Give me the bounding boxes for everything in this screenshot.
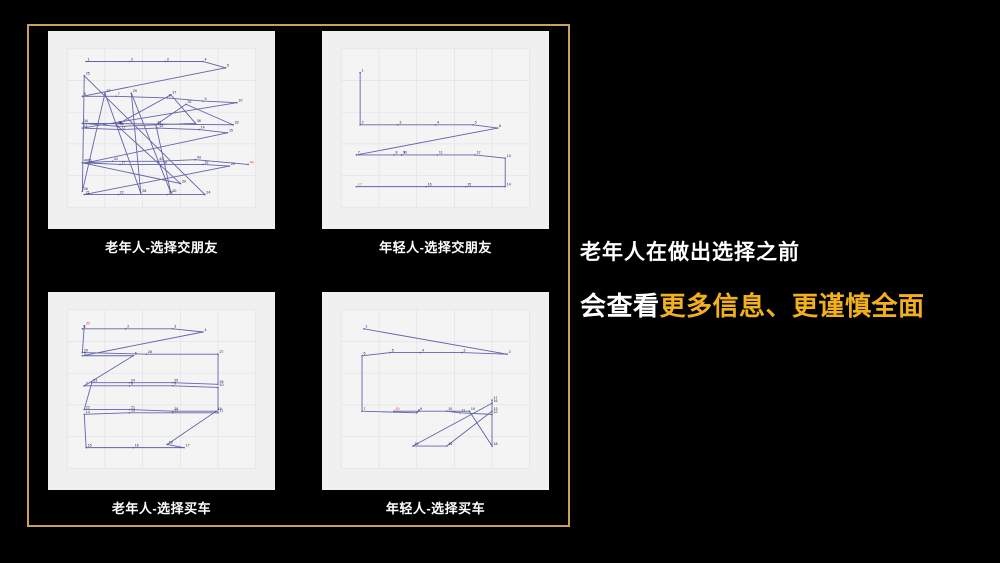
svg-text:18: 18 xyxy=(494,442,498,446)
svg-text:3: 3 xyxy=(167,57,169,61)
svg-text:7: 7 xyxy=(86,382,88,386)
svg-text:18: 18 xyxy=(163,160,167,164)
svg-text:10: 10 xyxy=(448,407,452,411)
svg-text:5: 5 xyxy=(392,348,394,352)
svg-text:18: 18 xyxy=(169,440,173,444)
svg-text:25: 25 xyxy=(174,378,178,382)
chart-card-elderly-buy-car: 1234567891011121314151617181920212223242… xyxy=(48,292,275,517)
svg-text:16: 16 xyxy=(135,443,139,447)
svg-text:2: 2 xyxy=(509,350,511,354)
message-line-2: 会查看更多信息、更谨慎全面 xyxy=(580,286,995,323)
svg-text:20: 20 xyxy=(231,162,235,166)
svg-text:28: 28 xyxy=(148,350,152,354)
slide-canvas: 1234567891011121314151617181920212223242… xyxy=(0,0,1000,563)
svg-text:26: 26 xyxy=(220,380,224,384)
svg-text:13: 13 xyxy=(507,154,511,158)
svg-text:10: 10 xyxy=(403,151,407,155)
svg-text:16: 16 xyxy=(428,182,432,186)
chart-panel: 1234567891011121314151617 xyxy=(322,31,549,229)
svg-text:34: 34 xyxy=(84,119,88,123)
chart-caption: 年轻人-选择交朋友 xyxy=(322,237,549,256)
svg-text:2: 2 xyxy=(127,325,129,329)
svg-text:14: 14 xyxy=(86,410,90,414)
svg-text:11: 11 xyxy=(461,409,465,413)
svg-text:41: 41 xyxy=(114,157,118,161)
svg-text:4: 4 xyxy=(437,121,439,125)
chart-panel: 1234567891011121314151617181920 xyxy=(322,292,549,490)
svg-text:5: 5 xyxy=(227,64,229,68)
message-line-2-highlight: 更多信息、更谨慎全面 xyxy=(660,291,925,321)
chart-card-young-make-friends: 1234567891011121314151617 年轻人-选择交朋友 xyxy=(322,31,549,256)
svg-text:1: 1 xyxy=(362,68,364,72)
svg-text:15: 15 xyxy=(414,442,418,446)
chart-caption: 年轻人-选择买车 xyxy=(322,498,549,517)
svg-text:9: 9 xyxy=(204,97,206,101)
svg-text:3: 3 xyxy=(463,348,465,352)
svg-text:6: 6 xyxy=(499,124,501,128)
svg-text:30: 30 xyxy=(172,189,176,193)
svg-text:20: 20 xyxy=(396,407,400,411)
svg-text:12: 12 xyxy=(477,151,481,155)
svg-text:29: 29 xyxy=(133,89,137,93)
svg-text:6: 6 xyxy=(84,92,86,96)
svg-text:4: 4 xyxy=(204,328,206,332)
svg-text:26: 26 xyxy=(84,187,88,191)
chart-card-elderly-make-friends: 1234567891011121314151617181920212223242… xyxy=(48,31,275,256)
svg-text:24: 24 xyxy=(131,378,135,382)
svg-text:42: 42 xyxy=(159,157,163,161)
svg-text:19: 19 xyxy=(204,160,208,164)
svg-text:8: 8 xyxy=(396,151,398,155)
svg-text:32: 32 xyxy=(187,100,191,104)
svg-text:30: 30 xyxy=(86,321,90,325)
svg-text:29: 29 xyxy=(84,348,88,352)
svg-text:4: 4 xyxy=(204,57,206,61)
svg-text:17: 17 xyxy=(186,443,190,447)
chart-panel: 1234567891011121314151617181920212223242… xyxy=(48,31,275,229)
svg-text:39: 39 xyxy=(182,179,186,183)
svg-text:14: 14 xyxy=(448,442,452,446)
svg-text:3: 3 xyxy=(174,325,176,329)
svg-text:5: 5 xyxy=(475,121,477,125)
svg-text:11: 11 xyxy=(439,151,443,155)
message-block: 老年人在做出选择之前 会查看更多信息、更谨慎全面 xyxy=(580,236,995,323)
svg-text:16: 16 xyxy=(88,159,92,163)
svg-text:28: 28 xyxy=(142,189,146,193)
svg-text:14: 14 xyxy=(201,125,205,129)
svg-text:44: 44 xyxy=(250,160,254,164)
svg-text:17: 17 xyxy=(358,182,362,186)
svg-text:27: 27 xyxy=(106,89,110,93)
svg-text:14: 14 xyxy=(507,182,511,186)
chart-card-young-buy-car: 1234567891011121314151617181920 年轻人-选择买车 xyxy=(322,292,549,517)
svg-text:20: 20 xyxy=(174,407,178,411)
svg-text:40: 40 xyxy=(84,159,88,163)
svg-text:31: 31 xyxy=(157,121,161,125)
message-line-1: 老年人在做出选择之前 xyxy=(580,236,995,266)
svg-text:2: 2 xyxy=(131,57,133,61)
chart-caption: 老年人-选择交朋友 xyxy=(48,237,275,256)
svg-text:3: 3 xyxy=(399,121,401,125)
svg-text:6: 6 xyxy=(364,352,366,356)
svg-text:15: 15 xyxy=(229,129,233,133)
svg-text:17: 17 xyxy=(122,160,126,164)
chart-grid: 1234567891011121314151617181920212223242… xyxy=(27,24,570,527)
svg-text:13: 13 xyxy=(494,407,498,411)
svg-text:21: 21 xyxy=(131,405,135,409)
svg-text:7: 7 xyxy=(364,407,366,411)
svg-text:23: 23 xyxy=(93,378,97,382)
svg-text:15: 15 xyxy=(467,182,471,186)
svg-text:15: 15 xyxy=(88,443,92,447)
svg-text:22: 22 xyxy=(86,405,90,409)
scanpath-svg-0: 1234567891011121314151617181920212223242… xyxy=(48,31,275,229)
svg-text:10: 10 xyxy=(238,98,242,102)
svg-text:4: 4 xyxy=(422,348,424,352)
svg-text:19: 19 xyxy=(218,407,222,411)
svg-text:37: 37 xyxy=(172,91,176,95)
chart-panel: 1234567891011121314151617181920212223242… xyxy=(48,292,275,490)
svg-text:27: 27 xyxy=(220,350,224,354)
message-line-2-plain: 会查看 xyxy=(580,291,660,321)
svg-text:7: 7 xyxy=(118,92,120,96)
svg-text:25: 25 xyxy=(86,72,90,76)
svg-text:36: 36 xyxy=(197,119,201,123)
scanpath-svg-2: 1234567891011121314151617181920212223242… xyxy=(48,292,275,490)
svg-text:11: 11 xyxy=(84,124,88,128)
scanpath-svg-3: 1234567891011121314151617181920 xyxy=(322,292,549,490)
scanpath-svg-1: 1234567891011121314151617 xyxy=(322,31,549,229)
svg-text:38: 38 xyxy=(118,121,122,125)
svg-text:2: 2 xyxy=(362,121,364,125)
svg-text:6: 6 xyxy=(135,352,137,356)
chart-caption: 老年人-选择买车 xyxy=(48,498,275,517)
svg-text:19: 19 xyxy=(471,407,475,411)
svg-text:22: 22 xyxy=(120,190,124,194)
svg-text:1: 1 xyxy=(365,325,367,329)
svg-text:7: 7 xyxy=(358,151,360,155)
svg-text:33: 33 xyxy=(235,121,239,125)
svg-text:9: 9 xyxy=(420,407,422,411)
svg-text:43: 43 xyxy=(197,156,201,160)
svg-text:24: 24 xyxy=(206,190,210,194)
svg-text:17: 17 xyxy=(494,396,498,400)
svg-text:1: 1 xyxy=(88,57,90,61)
